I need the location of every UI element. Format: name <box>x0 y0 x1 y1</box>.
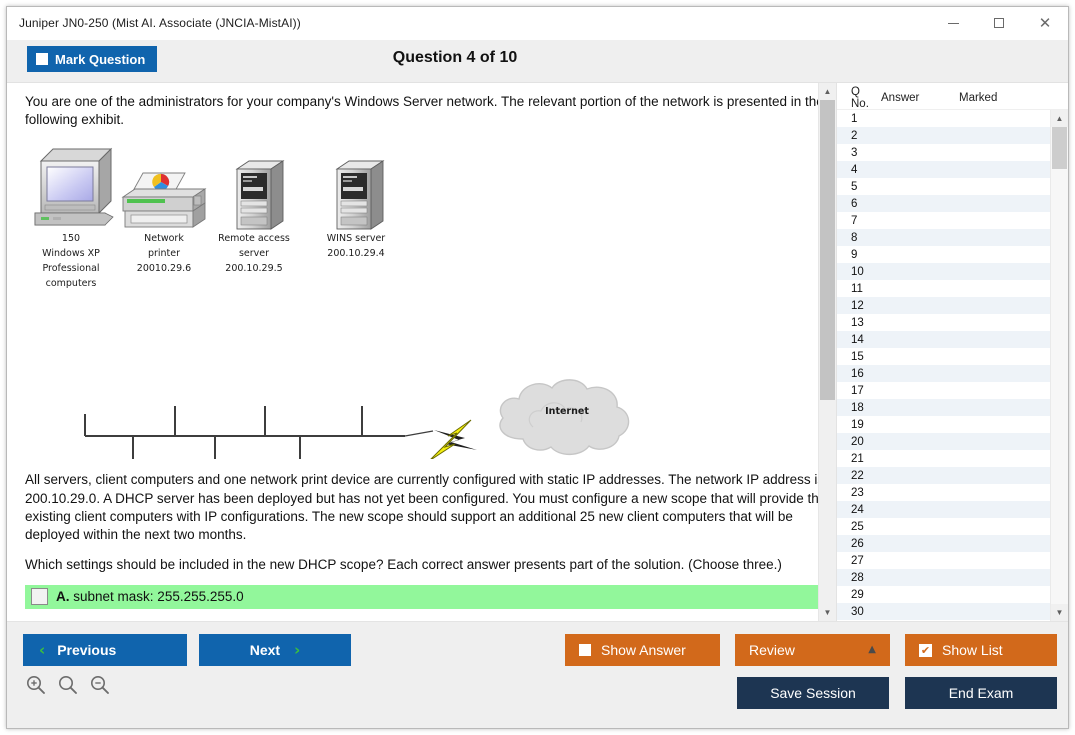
question-list-row-number: 19 <box>837 419 881 431</box>
save-session-button[interactable]: Save Session <box>737 677 889 709</box>
server-tower-icon <box>237 161 283 229</box>
internet-cloud-icon <box>500 380 629 455</box>
desktop-computer-icon <box>35 149 113 225</box>
question-list-row[interactable]: 21 <box>837 450 1051 467</box>
question-list-row[interactable]: 16 <box>837 365 1051 382</box>
svg-text:200.10.29.4: 200.10.29.4 <box>327 248 384 259</box>
close-button[interactable]: ✕ <box>1022 7 1068 39</box>
question-list-row[interactable]: 6 <box>837 195 1051 212</box>
chevron-left-icon: ‹ <box>39 643 45 658</box>
question-list-row[interactable]: 26 <box>837 535 1051 552</box>
review-label: Review <box>749 642 795 658</box>
question-list-row[interactable]: 13 <box>837 314 1051 331</box>
window-title: Juniper JN0-250 (Mist AI. Associate (JNC… <box>7 16 301 30</box>
answer-option-a-letter: A. <box>56 589 70 604</box>
list-scrollbar-thumb[interactable] <box>1052 127 1067 169</box>
question-list-row[interactable]: 24 <box>837 501 1051 518</box>
maximize-button[interactable] <box>976 7 1022 39</box>
question-intro-text: You are one of the administrators for yo… <box>25 93 828 129</box>
end-exam-label: End Exam <box>949 685 1014 701</box>
question-list-row-number: 28 <box>837 572 881 584</box>
chevron-right-icon: › <box>294 643 300 658</box>
list-scroll-down-icon[interactable]: ▼ <box>1051 604 1068 621</box>
question-list-row[interactable]: 30 <box>837 603 1051 620</box>
question-list-row[interactable]: 15 <box>837 348 1051 365</box>
question-list-row-number: 26 <box>837 538 881 550</box>
body-split: You are one of the administrators for yo… <box>7 83 1068 621</box>
show-answer-button[interactable]: Show Answer <box>565 634 720 666</box>
svg-text:20010.29.6: 20010.29.6 <box>137 263 191 274</box>
titlebar: Juniper JN0-250 (Mist AI. Associate (JNC… <box>7 7 1068 40</box>
svg-text:Internet: Internet <box>545 406 589 417</box>
question-list-row-number: 16 <box>837 368 881 380</box>
show-answer-checkbox-icon[interactable] <box>579 644 591 656</box>
svg-text:computers: computers <box>46 278 97 289</box>
question-list-row-number: 18 <box>837 402 881 414</box>
question-list-row[interactable]: 25 <box>837 518 1051 535</box>
question-list-row-number: 12 <box>837 300 881 312</box>
question-list-row[interactable]: 27 <box>837 552 1051 569</box>
question-pane: You are one of the administrators for yo… <box>7 83 836 621</box>
mark-question-button[interactable]: Mark Question <box>27 46 157 72</box>
previous-button-label: Previous <box>57 642 116 658</box>
question-list-row[interactable]: 23 <box>837 484 1051 501</box>
network-diagram-exhibit: 150 Windows XP Professional computers <box>25 139 645 459</box>
question-list-row-number: 10 <box>837 266 881 278</box>
t1-lightning-icon <box>429 420 477 459</box>
show-list-checkbox-icon[interactable]: ✔ <box>919 644 932 657</box>
svg-text:Remote access: Remote access <box>218 233 290 244</box>
review-dropdown-button[interactable]: Review ▲ <box>735 634 890 666</box>
answer-option-a-label: subnet mask: 255.255.255.0 <box>73 589 243 604</box>
question-list-rows: 1234567891011121314151617181920212223242… <box>837 110 1051 621</box>
question-list-row-number: 1 <box>837 113 881 125</box>
question-counter-label: Question 4 of 10 <box>393 49 682 66</box>
question-list-row[interactable]: 1 <box>837 110 1051 127</box>
question-paragraph-2: Which settings should be included in the… <box>25 556 828 574</box>
question-list-row-number: 8 <box>837 232 881 244</box>
question-paragraph-1: All servers, client computers and one ne… <box>25 471 828 544</box>
scroll-up-icon[interactable]: ▲ <box>819 83 836 100</box>
question-list-scrollbar[interactable]: ▲ ▼ <box>1050 110 1068 621</box>
question-list-row-number: 9 <box>837 249 881 261</box>
question-list-panel: Q No. Answer Marked 12345678910111213141… <box>836 83 1068 621</box>
question-list-row[interactable]: 14 <box>837 331 1051 348</box>
window-frame: Juniper JN0-250 (Mist AI. Associate (JNC… <box>6 6 1069 729</box>
diagram-links <box>85 406 433 459</box>
question-list-row[interactable]: 28 <box>837 569 1051 586</box>
minimize-icon <box>948 23 959 24</box>
svg-text:Professional: Professional <box>42 263 99 274</box>
question-list-row-number: 3 <box>837 147 881 159</box>
scroll-down-icon[interactable]: ▼ <box>819 604 836 621</box>
next-button-label: Next <box>250 642 280 658</box>
network-printer-icon <box>123 173 205 227</box>
answer-option-a[interactable]: A. subnet mask: 255.255.255.0 <box>25 585 836 609</box>
show-answer-label: Show Answer <box>601 642 686 658</box>
mark-question-checkbox-icon[interactable] <box>36 53 48 65</box>
svg-text:server: server <box>239 248 269 259</box>
list-scroll-up-icon[interactable]: ▲ <box>1051 110 1068 127</box>
question-list-row-number: 7 <box>837 215 881 227</box>
answer-option-a-checkbox[interactable] <box>31 588 48 605</box>
question-list-row-number: 11 <box>837 283 881 295</box>
question-list-row-number: 25 <box>837 521 881 533</box>
question-list-row[interactable]: 19 <box>837 416 1051 433</box>
question-list-row[interactable]: 17 <box>837 382 1051 399</box>
svg-text:printer: printer <box>148 248 180 259</box>
question-list-row-number: 30 <box>837 606 881 618</box>
question-list-row[interactable]: 2 <box>837 127 1051 144</box>
minimize-button[interactable] <box>930 7 976 39</box>
svg-text:200.10.29.5: 200.10.29.5 <box>225 263 282 274</box>
header-bar: Mark Question Question 4 of 10 <box>7 40 1068 83</box>
question-list-row-number: 22 <box>837 470 881 482</box>
server-tower-icon <box>337 161 383 229</box>
footer-toolbar: ‹ Previous Next › Show Answer Review ▲ ✔… <box>7 621 1068 728</box>
question-list-row[interactable]: 9 <box>837 246 1051 263</box>
svg-text:Network: Network <box>144 233 184 244</box>
question-list-row[interactable]: 12 <box>837 297 1051 314</box>
question-list-row[interactable]: 22 <box>837 467 1051 484</box>
column-header-qno: Q No. <box>837 86 881 110</box>
question-list-row[interactable]: 5 <box>837 178 1051 195</box>
question-list-row-number: 24 <box>837 504 881 516</box>
zoom-out-icon[interactable] <box>89 674 111 696</box>
question-list-row-number: 4 <box>837 164 881 176</box>
question-list-row-number: 14 <box>837 334 881 346</box>
question-list-row-number: 20 <box>837 436 881 448</box>
mark-question-label: Mark Question <box>55 52 145 67</box>
question-list-row-number: 17 <box>837 385 881 397</box>
question-list-row-number: 29 <box>837 589 881 601</box>
window-controls: ✕ <box>930 7 1068 39</box>
column-header-answer: Answer <box>881 92 959 104</box>
question-list-row[interactable]: 3 <box>837 144 1051 161</box>
question-list-row[interactable]: 11 <box>837 280 1051 297</box>
question-list-row-number: 13 <box>837 317 881 329</box>
question-list-row-number: 5 <box>837 181 881 193</box>
close-icon: ✕ <box>1039 17 1052 29</box>
question-list-scroll-area: 1234567891011121314151617181920212223242… <box>837 109 1068 621</box>
next-button[interactable]: Next › <box>199 634 351 666</box>
question-scrollbar-thumb[interactable] <box>820 100 835 400</box>
maximize-icon <box>994 18 1004 28</box>
show-list-label: Show List <box>942 642 1003 658</box>
end-exam-button[interactable]: End Exam <box>905 677 1057 709</box>
show-list-button[interactable]: ✔ Show List <box>905 634 1057 666</box>
question-counter: Question 4 of 10 <box>7 49 1068 67</box>
question-list-row[interactable]: 29 <box>837 586 1051 603</box>
question-list-header: Q No. Answer Marked <box>837 83 1068 109</box>
svg-text:WINS server: WINS server <box>327 233 386 244</box>
question-list-row-number: 6 <box>837 198 881 210</box>
question-list-row[interactable]: 20 <box>837 433 1051 450</box>
question-pane-scrollbar[interactable]: ▲ ▼ <box>818 83 836 621</box>
exam-simulator-window: Juniper JN0-250 (Mist AI. Associate (JNC… <box>0 0 1075 735</box>
chevron-up-icon: ▲ <box>868 645 876 655</box>
question-list-row-number: 15 <box>837 351 881 363</box>
question-list-row[interactable]: 10 <box>837 263 1051 280</box>
previous-button[interactable]: ‹ Previous <box>23 634 187 666</box>
question-list-row[interactable]: 7 <box>837 212 1051 229</box>
zoom-reset-icon[interactable] <box>57 674 79 696</box>
zoom-toolbar <box>25 674 111 696</box>
zoom-in-icon[interactable] <box>25 674 47 696</box>
answer-option-a-text: A. subnet mask: 255.255.255.0 <box>56 589 244 604</box>
question-list-row-number: 21 <box>837 453 881 465</box>
question-list-row[interactable]: 18 <box>837 399 1051 416</box>
question-list-row[interactable]: 4 <box>837 161 1051 178</box>
svg-text:150: 150 <box>62 233 80 244</box>
svg-text:Windows XP: Windows XP <box>42 248 100 259</box>
save-session-label: Save Session <box>770 685 856 701</box>
column-header-marked: Marked <box>959 92 1029 104</box>
question-list-row[interactable]: 8 <box>837 229 1051 246</box>
question-list-row-number: 27 <box>837 555 881 567</box>
question-list-row-number: 2 <box>837 130 881 142</box>
question-list-row-number: 23 <box>837 487 881 499</box>
